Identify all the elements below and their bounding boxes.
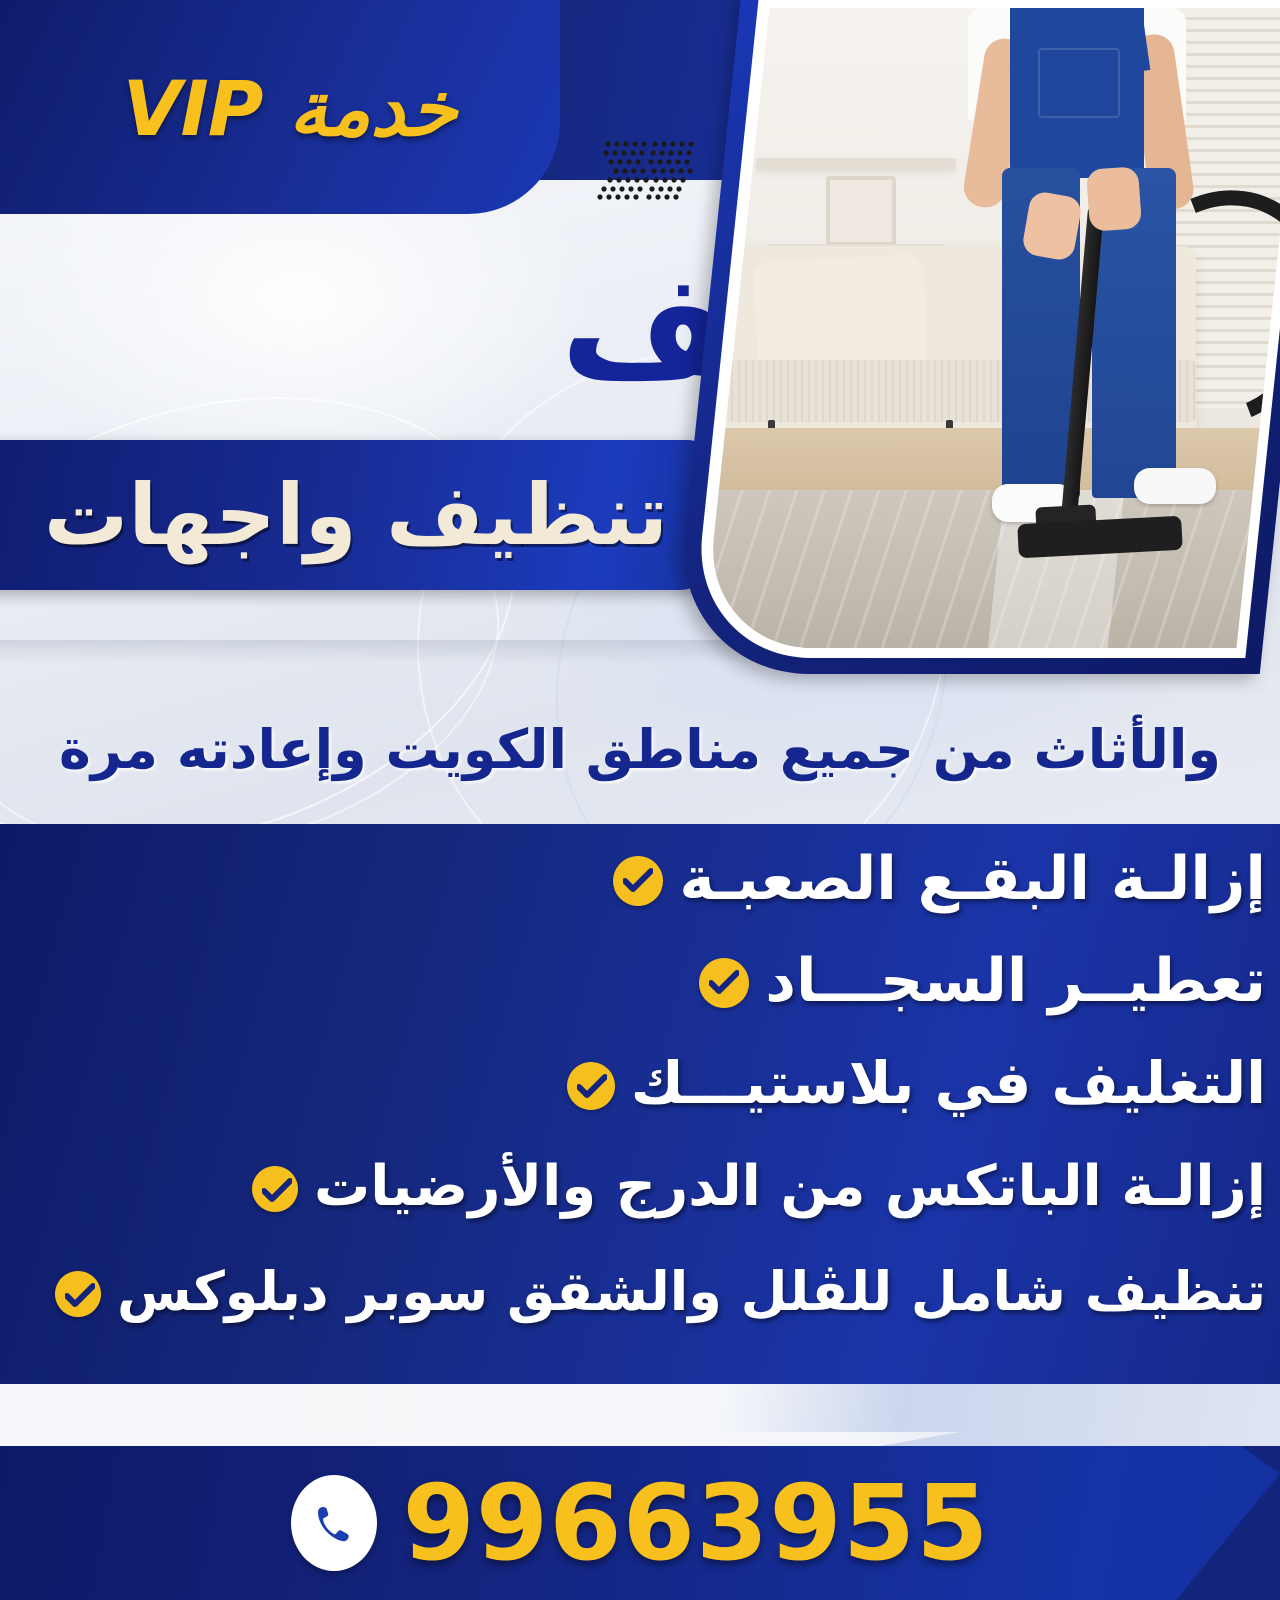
worker-shoe-right (1134, 468, 1216, 504)
phone-number[interactable]: 99663955 (403, 1468, 990, 1578)
check-circle-icon (55, 1271, 101, 1317)
features-section: إزالـة البقـع الصعبـة تعطيــر السجـــاد … (0, 824, 1280, 1384)
check-circle-icon (613, 856, 663, 906)
phone-icon[interactable] (291, 1475, 377, 1571)
check-circle-icon (567, 1062, 615, 1110)
dot-grid-decoration (592, 138, 696, 200)
list-item: التغليف في بلاستيـــك (567, 1052, 1266, 1116)
subtitle-text: والأثاث من جميع مناطق الكويت وإعادته مرة (0, 700, 1280, 800)
feature-label: التغليف في بلاستيـــك (631, 1052, 1266, 1116)
photo-scene (702, 8, 1280, 648)
poster-root: خدمة VIP (0, 0, 1280, 1600)
service-banner: تنظيف واجهات (0, 440, 710, 590)
features-list: إزالـة البقـع الصعبـة تعطيــر السجـــاد … (0, 824, 1280, 1384)
service-banner-label: تنظيف واجهات (36, 460, 676, 570)
check-circle-icon (699, 958, 749, 1008)
photo-clip (702, 8, 1280, 648)
list-item: إزالـة الباتكس من الدرج والأرضيات (252, 1156, 1266, 1218)
feature-label: إزالـة الباتكس من الدرج والأرضيات (314, 1156, 1266, 1218)
feature-label: تنظيف شامل للڤلل والشقق سوبر دبلوكس (117, 1262, 1266, 1321)
list-item: إزالـة البقـع الصعبـة (613, 846, 1266, 912)
contact-footer[interactable]: 99663955 (0, 1446, 1280, 1600)
picture-frame (826, 176, 896, 246)
worker-vacuuming-carpet-photo (706, 0, 1280, 674)
worker-pocket (1038, 48, 1120, 118)
list-item: تنظيف شامل للڤلل والشقق سوبر دبلوكس (55, 1262, 1266, 1321)
wall-shelf (756, 158, 956, 170)
feature-label: إزالـة البقـع الصعبـة (679, 846, 1266, 912)
list-item: تعطيــر السجـــاد (699, 948, 1266, 1014)
worker-hand-upper (1086, 166, 1142, 231)
check-circle-icon (252, 1166, 298, 1212)
vip-badge-label: خدمة VIP (90, 54, 490, 164)
feature-label: تعطيــر السجـــاد (765, 948, 1266, 1014)
